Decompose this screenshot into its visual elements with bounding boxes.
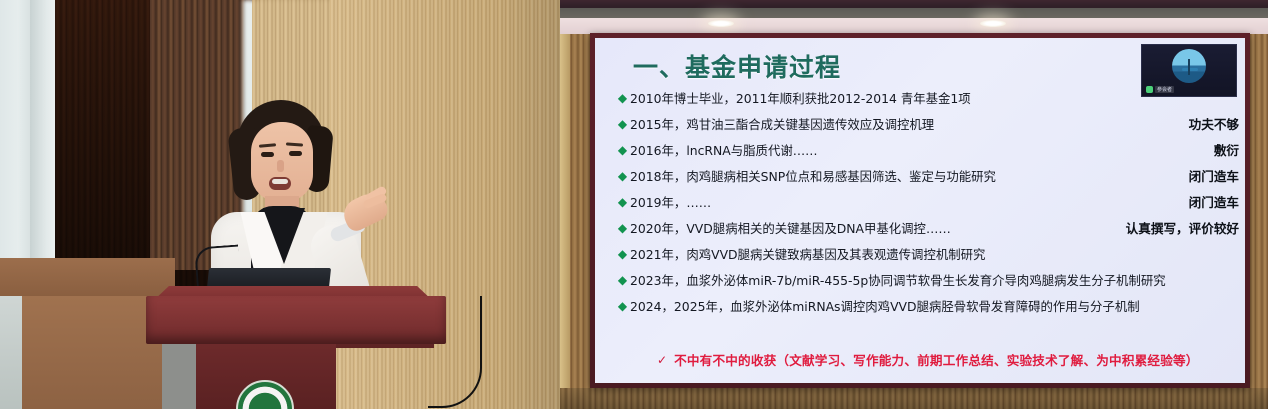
presenter-nose (277, 160, 284, 172)
list-item: ◆ 2023年，血浆外泌体miR-7b/miR-455-5p协同调节软骨生长发育… (615, 272, 1239, 291)
ceiling-soffit (560, 18, 1268, 34)
wall-corner-strip (560, 0, 570, 409)
bullet-text: 2015年，鸡甘油三酯合成关键基因遗传效应及调控机理 (630, 116, 934, 133)
bullet-text: 2023年，血浆外泌体miR-7b/miR-455-5p协同调节软骨生长发育介导… (630, 272, 1166, 289)
diamond-bullet-icon: ◆ (615, 194, 630, 211)
projection-screen-frame: 一、基金申请过程 ◆ 2010年博士毕业，2011年顺利获批2012-2014 … (590, 33, 1250, 388)
presenter-eye-left (261, 152, 274, 157)
bullet-text: 2020年，VVD腿病相关的关键基因及DNA甲基化调控…… (630, 220, 951, 237)
list-item: ◆ 2021年，肉鸡VVD腿病关键致病基因及其表观遗传调控机制研究 (615, 246, 1239, 265)
side-table-front (22, 296, 162, 409)
diamond-bullet-icon: ◆ (615, 220, 630, 237)
bullet-text: 2021年，肉鸡VVD腿病关键致病基因及其表观遗传调控机制研究 (630, 246, 985, 263)
bullet-text: 2016年，lncRNA与脂质代谢…… (630, 142, 818, 159)
list-item: ◆ 2018年，肉鸡腿病相关SNP位点和易感基因筛选、鉴定与功能研究 闭门造车 (615, 168, 1239, 187)
diamond-bullet-icon: ◆ (615, 246, 630, 263)
list-item: ◆ 2020年，VVD腿病相关的关键基因及DNA甲基化调控…… 认真撰写，评价较… (615, 220, 1239, 239)
participant-name-row: 参会者 (1146, 86, 1174, 93)
participant-name-label: 参会者 (1155, 86, 1174, 93)
diamond-bullet-icon: ◆ (615, 142, 630, 159)
bullet-text: 2010年博士毕业，2011年顺利获批2012-2014 青年基金1项 (630, 90, 971, 107)
room-right-half: 一、基金申请过程 ◆ 2010年博士毕业，2011年顺利获批2012-2014 … (560, 0, 1268, 409)
ceiling-downlight-right (980, 20, 1006, 27)
microphone-icon (1146, 86, 1153, 93)
diamond-bullet-icon: ◆ (615, 298, 630, 315)
room-left-half: 畜牧科技学院 (0, 0, 570, 409)
participant-avatar (1172, 49, 1206, 83)
list-item: ◆ 2016年，lncRNA与脂质代谢…… 敷衍 (615, 142, 1239, 161)
slide-title: 一、基金申请过程 (633, 48, 841, 84)
lectern-body: 畜牧科技学院 (146, 296, 446, 344)
bullet-annotation: 闭门造车 (1189, 168, 1239, 185)
diamond-bullet-icon: ◆ (615, 90, 630, 107)
diamond-bullet-icon: ◆ (615, 116, 630, 133)
laptop-on-lectern (207, 268, 331, 288)
bullet-annotation: 认真撰写，评价较好 (1126, 220, 1239, 237)
presenter-eye-right (289, 151, 302, 156)
bullet-text: 2019年，…… (630, 194, 711, 211)
video-conference-participant-tile[interactable]: 参会者 (1141, 44, 1237, 97)
checkmark-icon: ✓ (657, 353, 667, 367)
ceiling-downlight-left (708, 20, 734, 27)
presenter-mouth (269, 177, 291, 190)
bullet-text: 2024，2025年，血浆外泌体miRNAs调控肉鸡VVD腿病胫骨软骨发育障碍的… (630, 298, 1140, 315)
diamond-bullet-icon: ◆ (615, 168, 630, 185)
bullet-annotation: 功夫不够 (1189, 116, 1239, 133)
lecture-hall-screenshot: 畜牧科技学院 一、基金申请过程 ◆ 2010年博士毕业，2011年顺利获批201… (0, 0, 1268, 409)
list-item: ◆ 2015年，鸡甘油三酯合成关键基因遗传效应及调控机理 功夫不够 (615, 116, 1239, 135)
conclusion-text: 不中有不中的收获（文献学习、写作能力、前期工作总结、实验技术了解、为中积累经验等… (674, 350, 1199, 369)
wall-below-screen (560, 388, 1268, 409)
bullet-annotation: 闭门造车 (1189, 194, 1239, 211)
bullet-annotation: 敷衍 (1214, 142, 1239, 159)
slide-bullet-list: ◆ 2010年博士毕业，2011年顺利获批2012-2014 青年基金1项 ◆ … (615, 90, 1239, 324)
list-item: ◆ 2019年，…… 闭门造车 (615, 194, 1239, 213)
side-table-shadow (0, 296, 24, 409)
bullet-text: 2018年，肉鸡腿病相关SNP位点和易感基因筛选、鉴定与功能研究 (630, 168, 996, 185)
floor-cable (428, 296, 482, 408)
diamond-bullet-icon: ◆ (615, 272, 630, 289)
slide-conclusion-line: ✓ 不中有不中的收获（文献学习、写作能力、前期工作总结、实验技术了解、为中积累经… (657, 350, 1199, 369)
presentation-slide: 一、基金申请过程 ◆ 2010年博士毕业，2011年顺利获批2012-2014 … (595, 38, 1245, 383)
side-table-top (0, 258, 175, 298)
list-item: ◆ 2024，2025年，血浆外泌体miRNAs调控肉鸡VVD腿病胫骨软骨发育障… (615, 298, 1239, 317)
